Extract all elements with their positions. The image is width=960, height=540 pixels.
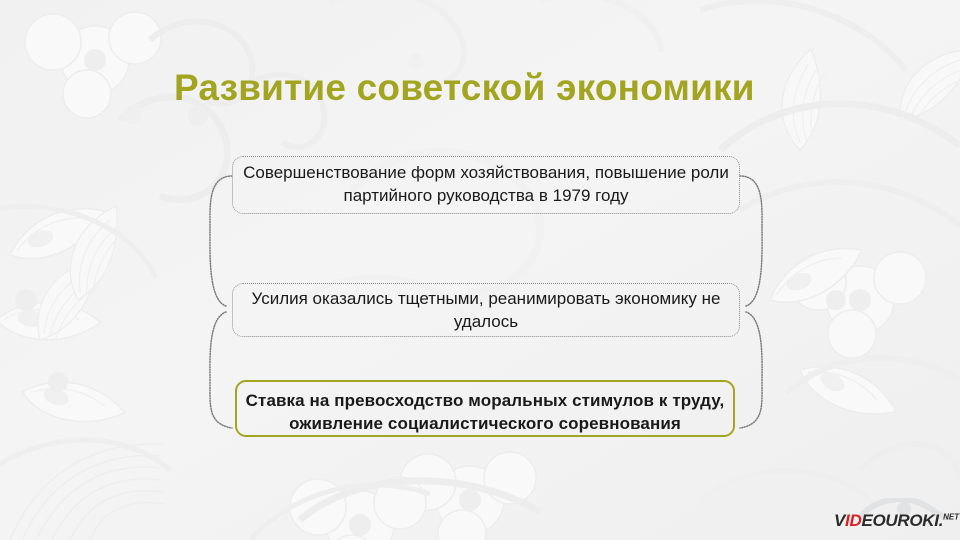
logo-prefix: V: [834, 511, 845, 530]
logo-wordmark: VIDEOUROKI.NET: [834, 511, 959, 531]
diagram-box-2-text: Усилия оказались тщетными, реанимировать…: [227, 288, 745, 333]
diagram-box-3-text: Ставка на превосходство моральных стимул…: [219, 389, 751, 435]
slide-title: Развитие советской экономики: [174, 66, 755, 110]
logo-tld: NET: [943, 512, 959, 521]
diagram-box-1: Совершенствование форм хозяйствования, п…: [232, 156, 740, 214]
videouroki-logo: VIDEOUROKI.NET: [834, 500, 952, 534]
diagram-box-3: Ставка на превосходство моральных стимул…: [235, 380, 735, 437]
diagram-box-2: Усилия оказались тщетными, реанимировать…: [232, 283, 740, 337]
diagram-box-1-text: Совершенствование форм хозяйствования, п…: [227, 162, 745, 207]
logo-accent: ID: [845, 511, 861, 530]
logo-suffix: EOUROKI.: [861, 511, 943, 530]
slide: Развитие советской экономики Совершенств…: [0, 0, 960, 540]
